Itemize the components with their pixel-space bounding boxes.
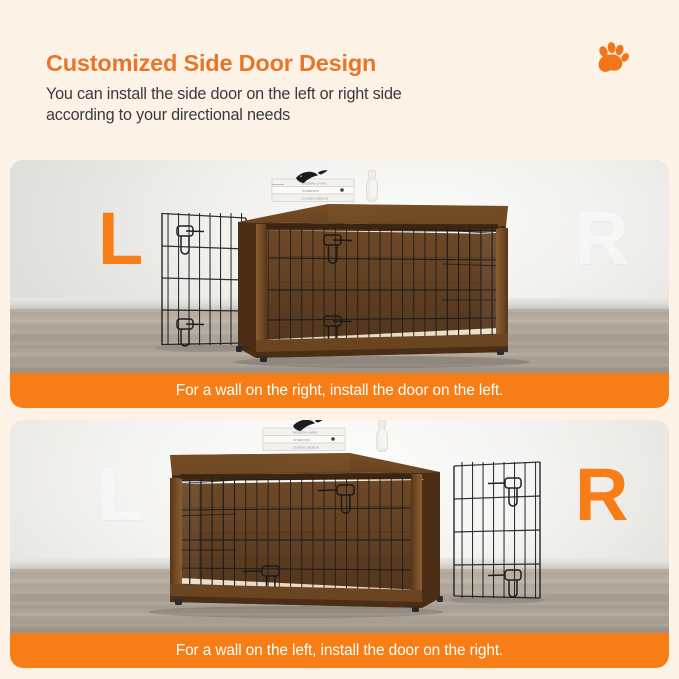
svg-text:CLASSIC DESIGN: CLASSIC DESIGN bbox=[293, 446, 319, 450]
paw-print-icon bbox=[594, 42, 630, 76]
product-photo-left-door: L R bbox=[10, 160, 669, 373]
decor-vase bbox=[377, 420, 388, 451]
svg-text:INTERIORS: INTERIORS bbox=[302, 189, 319, 193]
crate-side-door-open-left bbox=[162, 213, 246, 346]
svg-text:INTERIORS: INTERIORS bbox=[293, 438, 310, 442]
decor-books: MODERN LIVING INTERIORS CLASSIC DESIGN bbox=[272, 179, 354, 202]
page-title: Customized Side Door Design bbox=[46, 50, 376, 77]
svg-text:MODERN LIVING: MODERN LIVING bbox=[293, 431, 318, 435]
panel-right-door: L R bbox=[10, 420, 669, 668]
caption-text: For a wall on the right, install the doo… bbox=[176, 382, 503, 400]
header: Customized Side Door Design You can inst… bbox=[0, 0, 679, 150]
subtitle-line-1: You can install the side door on the lef… bbox=[46, 85, 402, 103]
subtitle-line-2: according to your directional needs bbox=[46, 105, 566, 126]
caption-bar-left-door: For a wall on the right, install the doo… bbox=[10, 373, 669, 408]
product-photo-right-door: L R bbox=[10, 420, 669, 633]
panel-left-door: L R bbox=[10, 160, 669, 408]
caption-bar-right-door: For a wall on the left, install the door… bbox=[10, 633, 669, 668]
page-subtitle: You can install the side door on the lef… bbox=[46, 84, 566, 126]
decor-books: MODERN LIVING INTERIORS CLASSIC DESIGN bbox=[263, 428, 345, 451]
svg-text:MODERN LIVING: MODERN LIVING bbox=[302, 182, 327, 186]
caption-text: For a wall on the left, install the door… bbox=[176, 642, 503, 660]
crate-side-door-open-right bbox=[454, 462, 540, 598]
dog-crate-right-door: MODERN LIVING INTERIORS CLASSIC DESIGN bbox=[10, 420, 669, 633]
decor-vase bbox=[367, 170, 378, 201]
svg-text:CLASSIC DESIGN: CLASSIC DESIGN bbox=[302, 197, 328, 201]
dog-crate-left-door: MODERN LIVING INTERIORS CLASSIC DESIGN bbox=[10, 160, 669, 373]
